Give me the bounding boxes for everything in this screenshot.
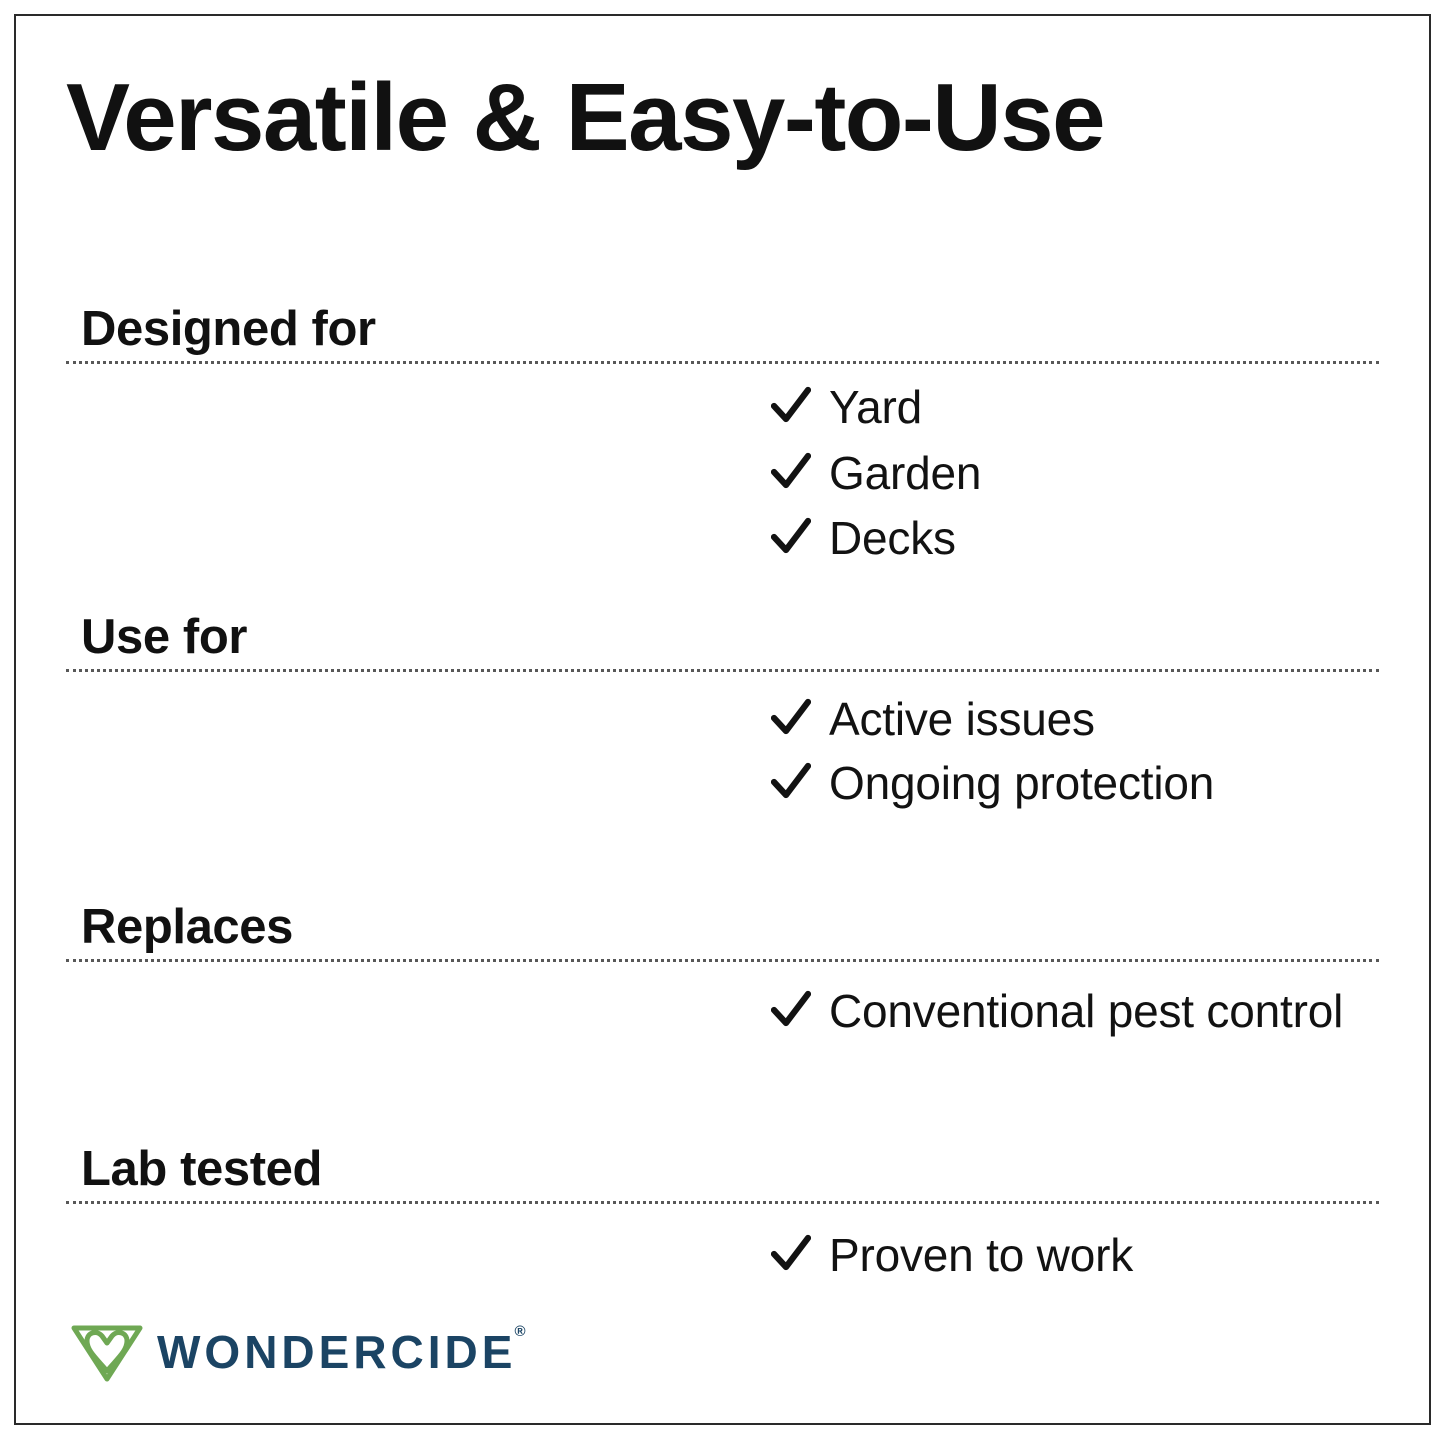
registered-trademark-symbol: ® — [514, 1323, 525, 1340]
section-designed-for: Designed for Yard — [66, 304, 1379, 576]
section-use-for: Use for Active issues — [66, 612, 1379, 819]
check-icon — [771, 758, 811, 804]
wondercide-w-heart-mark-icon — [71, 1321, 143, 1383]
list-item: Decks — [771, 511, 1379, 566]
section-header-replaces: Replaces — [66, 902, 1379, 962]
section-items-designed-for: Yard Garden — [771, 364, 1379, 566]
section-header-designed-for: Designed for — [66, 304, 1379, 364]
check-icon — [771, 1230, 811, 1276]
logo-wordmark-text: WONDERCIDE — [157, 1326, 516, 1378]
list-item: Active issues — [771, 692, 1379, 747]
section-header-use-for: Use for — [66, 612, 1379, 672]
list-item: Ongoing protection — [771, 756, 1379, 811]
section-replaces: Replaces Conventional pest control — [66, 902, 1379, 1048]
check-icon — [771, 694, 811, 740]
page-title: Versatile & Easy-to-Use — [66, 68, 1104, 169]
list-item: Proven to work — [771, 1228, 1379, 1283]
brand-logo: WONDERCIDE® — [71, 1321, 528, 1383]
section-title-designed-for: Designed for — [81, 304, 376, 355]
section-items-lab-tested: Proven to work — [771, 1204, 1379, 1283]
content-frame: Versatile & Easy-to-Use Designed for Yar… — [14, 14, 1431, 1425]
list-item-label: Yard — [829, 380, 922, 435]
check-icon — [771, 986, 811, 1032]
list-item-label: Proven to work — [829, 1228, 1133, 1283]
list-item-label: Decks — [829, 511, 956, 566]
section-header-lab-tested: Lab tested — [66, 1144, 1379, 1204]
list-item: Yard — [771, 380, 1379, 435]
section-title-use-for: Use for — [81, 612, 247, 663]
logo-wordmark: WONDERCIDE® — [157, 1329, 528, 1375]
section-items-replaces: Conventional pest control — [771, 962, 1379, 1039]
section-title-lab-tested: Lab tested — [81, 1144, 322, 1195]
marketing-infographic-page: Versatile & Easy-to-Use Designed for Yar… — [0, 0, 1445, 1439]
list-item-label: Conventional pest control — [829, 984, 1343, 1039]
content-inner: Versatile & Easy-to-Use Designed for Yar… — [16, 16, 1429, 1423]
check-icon — [771, 448, 811, 494]
check-icon — [771, 382, 811, 428]
list-item: Garden — [771, 446, 1379, 501]
section-title-replaces: Replaces — [81, 902, 293, 953]
check-icon — [771, 513, 811, 559]
list-item-label: Ongoing protection — [829, 756, 1214, 811]
list-item-label: Garden — [829, 446, 981, 501]
list-item: Conventional pest control — [771, 984, 1379, 1039]
section-lab-tested: Lab tested Proven to work — [66, 1144, 1379, 1294]
list-item-label: Active issues — [829, 692, 1095, 747]
section-items-use-for: Active issues Ongoing protection — [771, 672, 1379, 810]
